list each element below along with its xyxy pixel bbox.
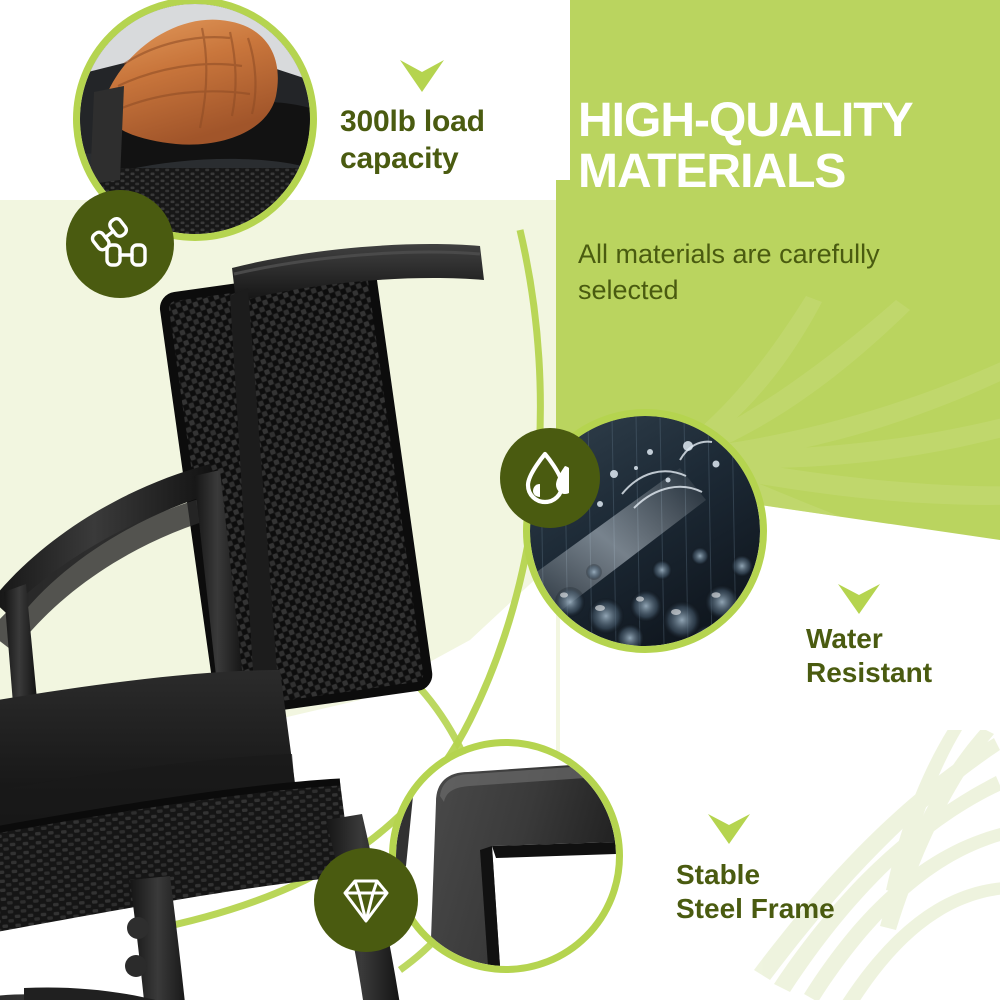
headline: HIGH-QUALITY MATERIALS xyxy=(578,96,988,198)
infographic-canvas: HIGH-QUALITY MATERIALS All materials are… xyxy=(0,0,1000,1000)
headline-line-1: HIGH-QUALITY xyxy=(578,94,913,147)
chevron-down-arrow-icon xyxy=(836,582,882,616)
feature-label-line-2: Resistant xyxy=(806,656,1000,690)
feature-label-line-2: Steel Frame xyxy=(676,892,906,926)
feature-label-line-1: Water xyxy=(806,622,1000,656)
feature-label-line-1: Stable xyxy=(676,858,906,892)
subheadline: All materials are carefully selected xyxy=(578,237,978,308)
feature-label-line-1: 300lb load xyxy=(340,104,555,141)
inset-ring-steel xyxy=(389,739,623,973)
water-drop-icon xyxy=(500,428,600,528)
feature-label-line-2: capacity xyxy=(340,141,555,178)
feature-label-stable-steel-frame: Stable Steel Frame xyxy=(676,858,906,926)
feature-label-load-capacity: 300lb load capacity xyxy=(340,104,555,177)
panel-notch xyxy=(556,0,570,180)
chevron-down-arrow-icon xyxy=(398,58,446,94)
feature-label-water-resistant: Water Resistant xyxy=(806,622,1000,690)
dumbbell-icon xyxy=(66,190,174,298)
headline-line-2: MATERIALS xyxy=(578,147,988,198)
diamond-icon xyxy=(314,848,418,952)
chevron-down-arrow-icon xyxy=(706,812,752,846)
